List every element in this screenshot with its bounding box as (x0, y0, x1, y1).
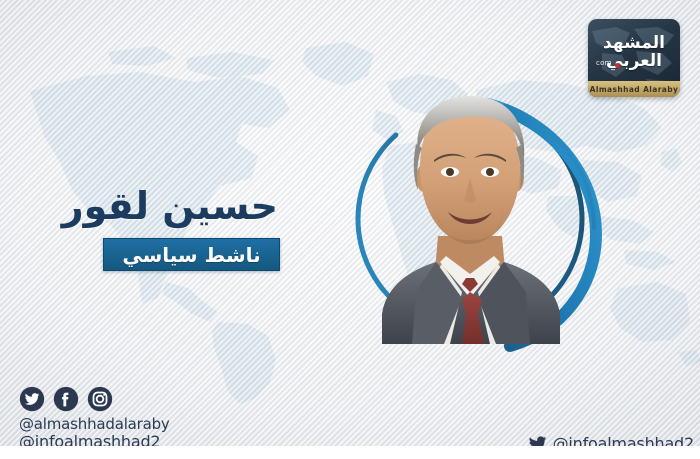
logo-name-band: Almashhad Alaraby (588, 81, 680, 97)
social-handles: @almashhadalaraby @infoalmashhad2 (19, 416, 170, 450)
logo-latin-name: Almashhad Alaraby (590, 85, 679, 94)
promo-card: حسين لقور ناشط سياسي المشهد العربي com A… (0, 0, 700, 459)
almashhad-alaraby-logo[interactable]: المشهد العربي com Almashhad Alaraby (588, 19, 680, 97)
portrait-photo (366, 86, 574, 344)
role-badge: ناشط سياسي (103, 238, 280, 271)
logo-arabic-line-2: العربي (606, 53, 662, 70)
facebook-icon[interactable] (53, 386, 79, 412)
handle-primary: @almashhadalaraby (19, 416, 170, 432)
portrait-block (338, 88, 602, 350)
bottom-white-strip (0, 446, 700, 459)
instagram-icon[interactable] (87, 386, 113, 412)
social-icon-row (19, 386, 113, 412)
logo-arabic-line-1: المشهد (603, 35, 665, 52)
twitter-icon[interactable] (19, 386, 45, 412)
person-name: حسين لقور (0, 186, 290, 228)
logo-com-label: com (596, 59, 612, 67)
logo-red-dot (615, 63, 620, 68)
role-badge-label: ناشط سياسي (122, 245, 260, 265)
